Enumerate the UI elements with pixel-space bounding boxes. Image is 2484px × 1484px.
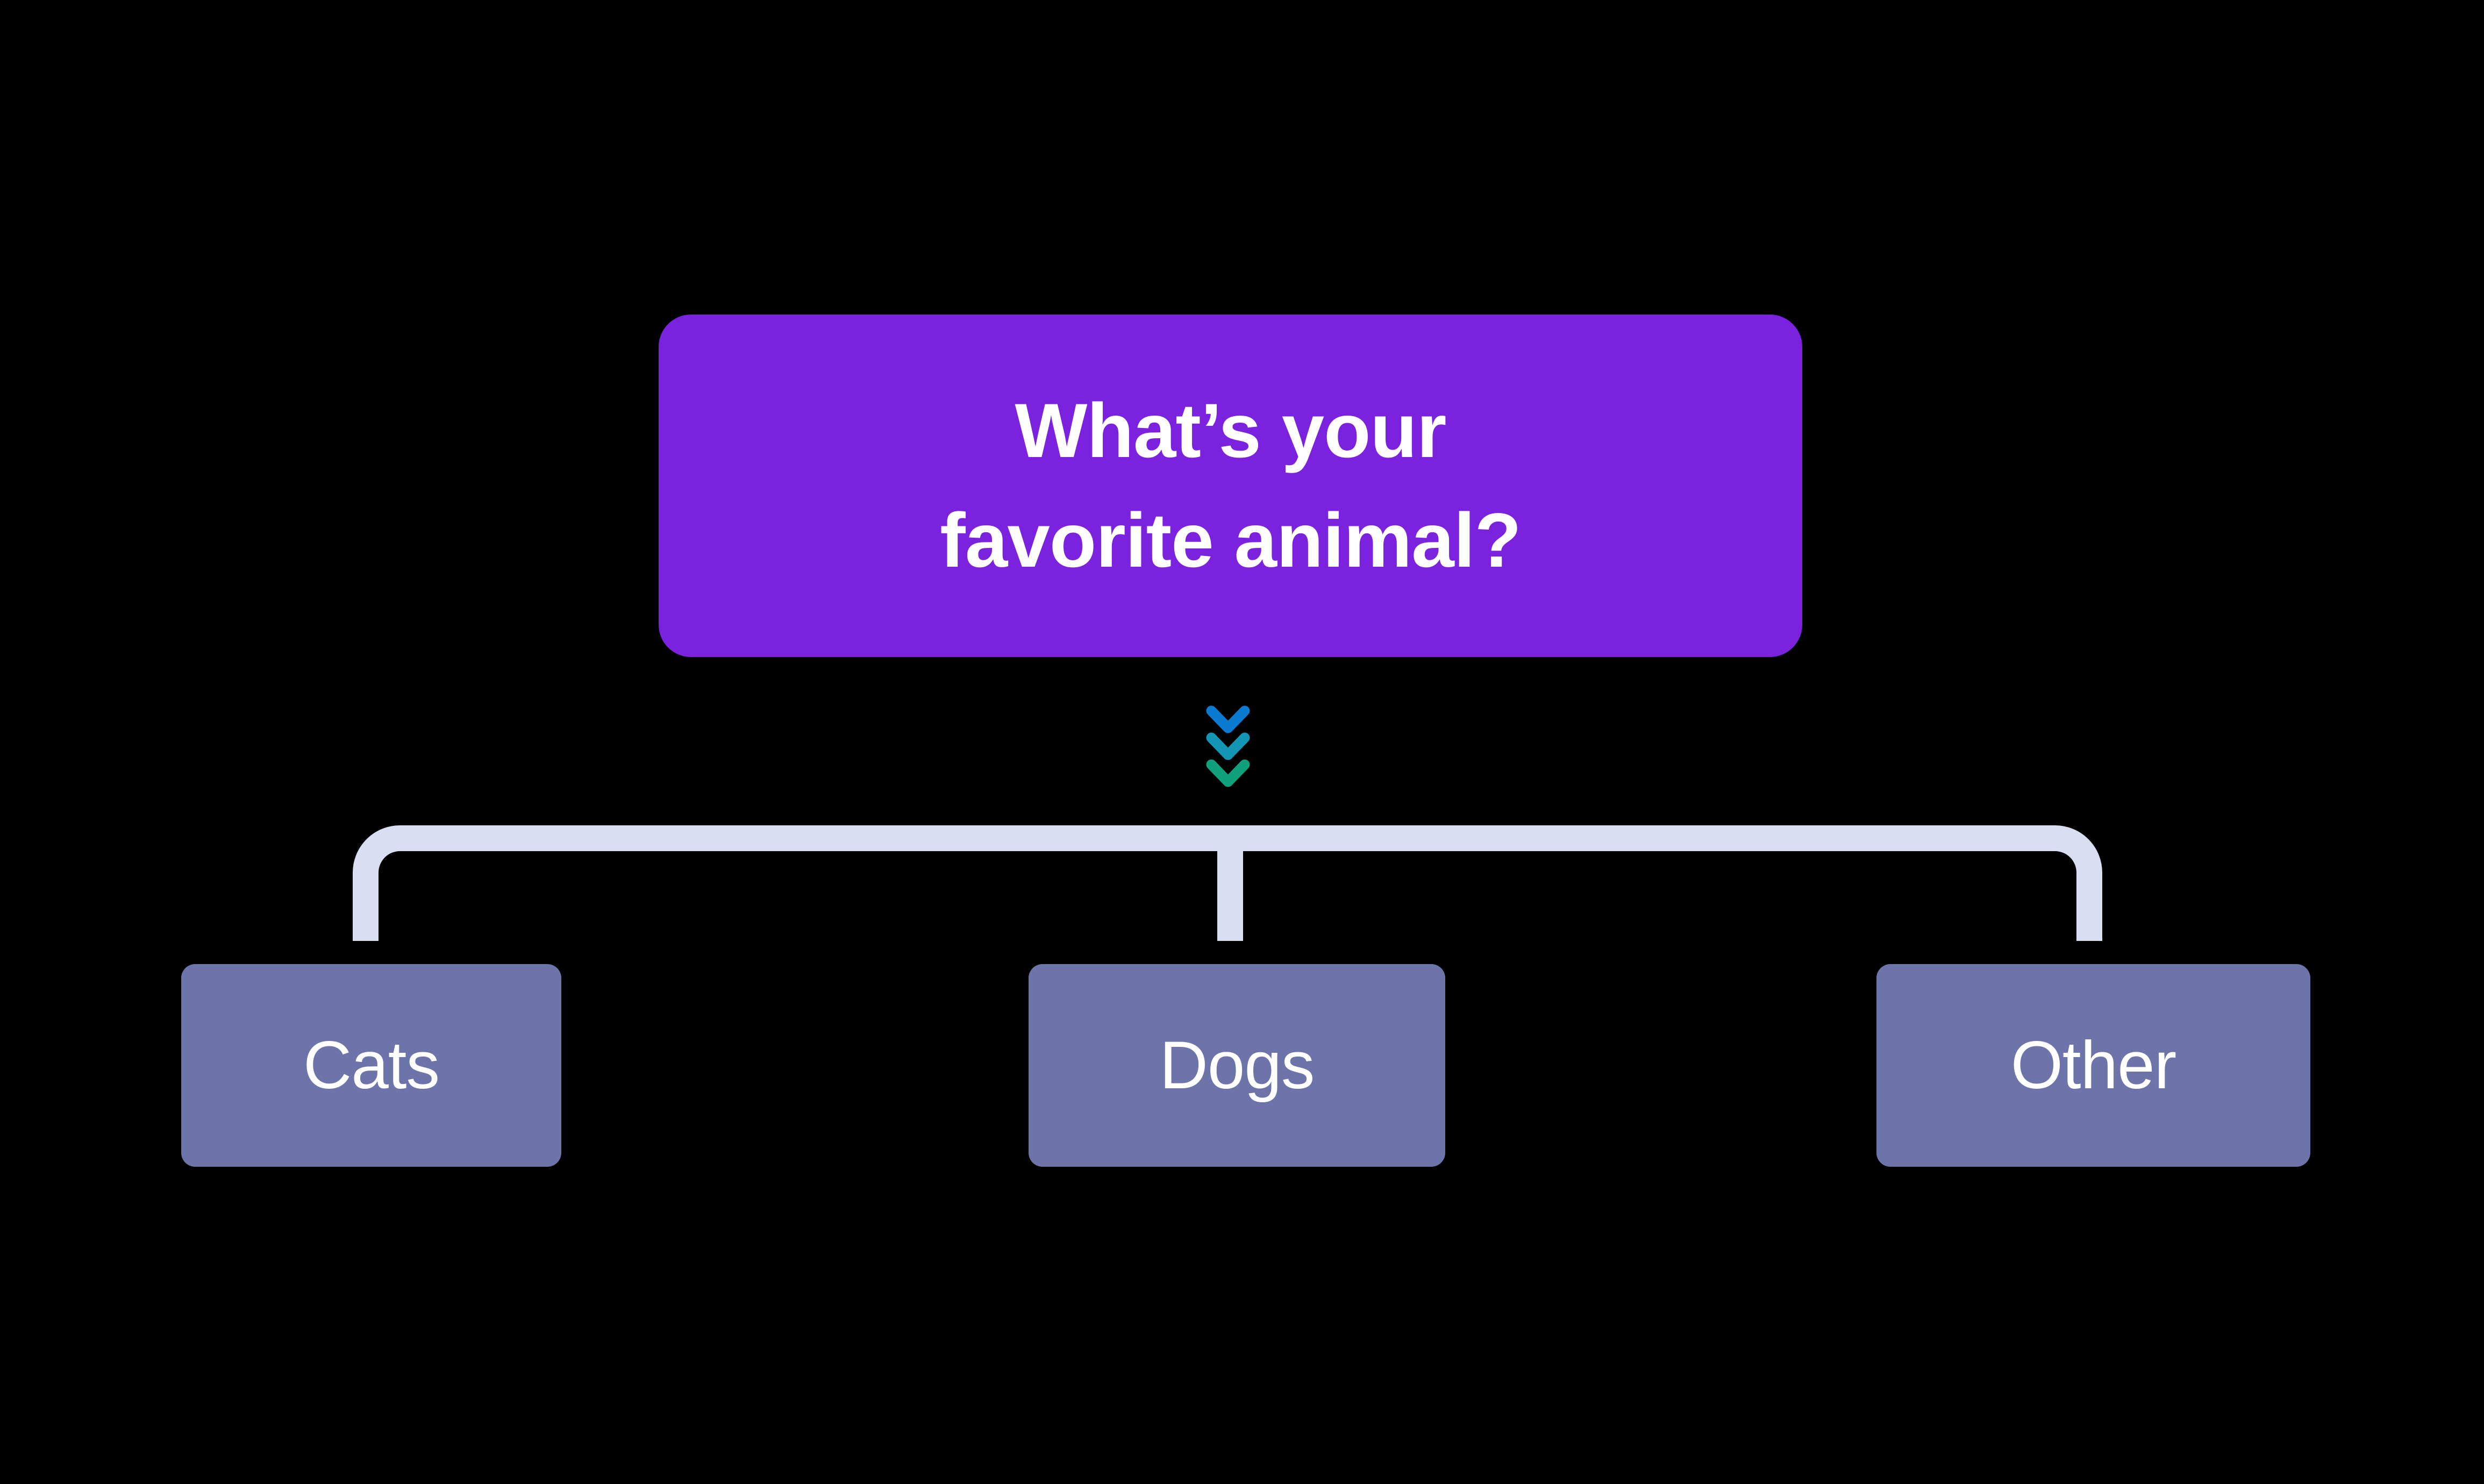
option-label-other: Other — [2011, 1032, 2176, 1099]
option-label-dogs: Dogs — [1160, 1032, 1315, 1099]
root-question-label: What’s your favorite animal? — [913, 376, 1548, 595]
option-node-dogs[interactable]: Dogs — [1029, 964, 1445, 1167]
option-node-other[interactable]: Other — [1876, 964, 2310, 1167]
root-question-node[interactable]: What’s your favorite animal? — [659, 315, 1802, 657]
diagram-canvas: What’s your favorite animal? Cats Dogs O… — [0, 0, 2484, 1484]
option-label-cats: Cats — [303, 1032, 439, 1099]
option-node-cats[interactable]: Cats — [181, 964, 561, 1167]
double-chevron-down-icon — [1206, 704, 1250, 791]
